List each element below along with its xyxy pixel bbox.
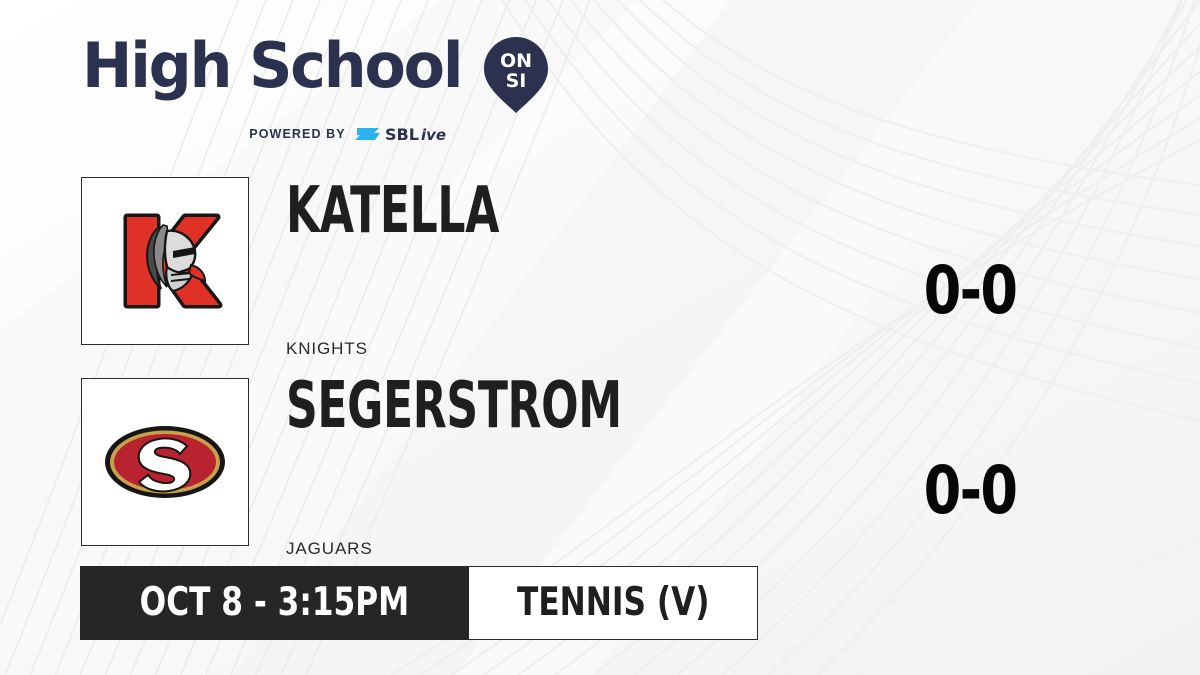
team-mascot: KNIGHTS bbox=[286, 339, 368, 359]
on-si-pin-icon: ON SI bbox=[483, 36, 549, 119]
sblive-text-1: SBL bbox=[385, 125, 419, 144]
brand-header: High School ON SI POWERED BY SBL ive bbox=[82, 34, 512, 139]
team-logo-box bbox=[81, 378, 249, 546]
game-datetime: OCT 8 - 3:15PM bbox=[140, 583, 409, 623]
game-sport-panel: TENNIS (V) bbox=[469, 566, 759, 640]
sblive-text-2: ive bbox=[421, 126, 446, 144]
team-name: KATELLA bbox=[286, 178, 499, 242]
brand-title: High School bbox=[82, 34, 461, 98]
pin-line-2: SI bbox=[506, 70, 527, 92]
matchup-graphic: High School ON SI POWERED BY SBL ive bbox=[0, 0, 1200, 675]
team-record: 0-0 bbox=[896, 458, 1044, 524]
katella-knights-logo-icon bbox=[105, 201, 225, 321]
powered-by-label: POWERED BY bbox=[249, 127, 345, 141]
sblive-logo: SBL ive bbox=[355, 123, 465, 145]
powered-by-row: POWERED BY SBL ive bbox=[82, 123, 512, 145]
team-mascot: JAGUARS bbox=[286, 539, 373, 559]
team-name: SEGERSTROM bbox=[286, 373, 622, 437]
segerstrom-jaguars-logo-icon bbox=[101, 410, 229, 514]
team-record: 0-0 bbox=[896, 258, 1044, 324]
game-info-bar: OCT 8 - 3:15PM TENNIS (V) bbox=[80, 566, 758, 640]
game-datetime-panel: OCT 8 - 3:15PM bbox=[80, 566, 469, 640]
game-sport: TENNIS (V) bbox=[517, 583, 709, 623]
pin-line-1: ON bbox=[500, 50, 532, 72]
team-logo-box bbox=[81, 177, 249, 345]
